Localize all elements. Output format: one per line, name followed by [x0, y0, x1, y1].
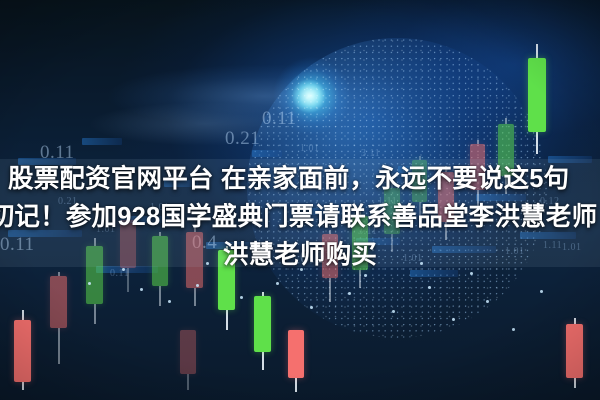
banner-image: 0.110.110.211.013.110.211.010.111.113.11…: [0, 0, 600, 400]
vignette-overlay: [0, 0, 600, 400]
